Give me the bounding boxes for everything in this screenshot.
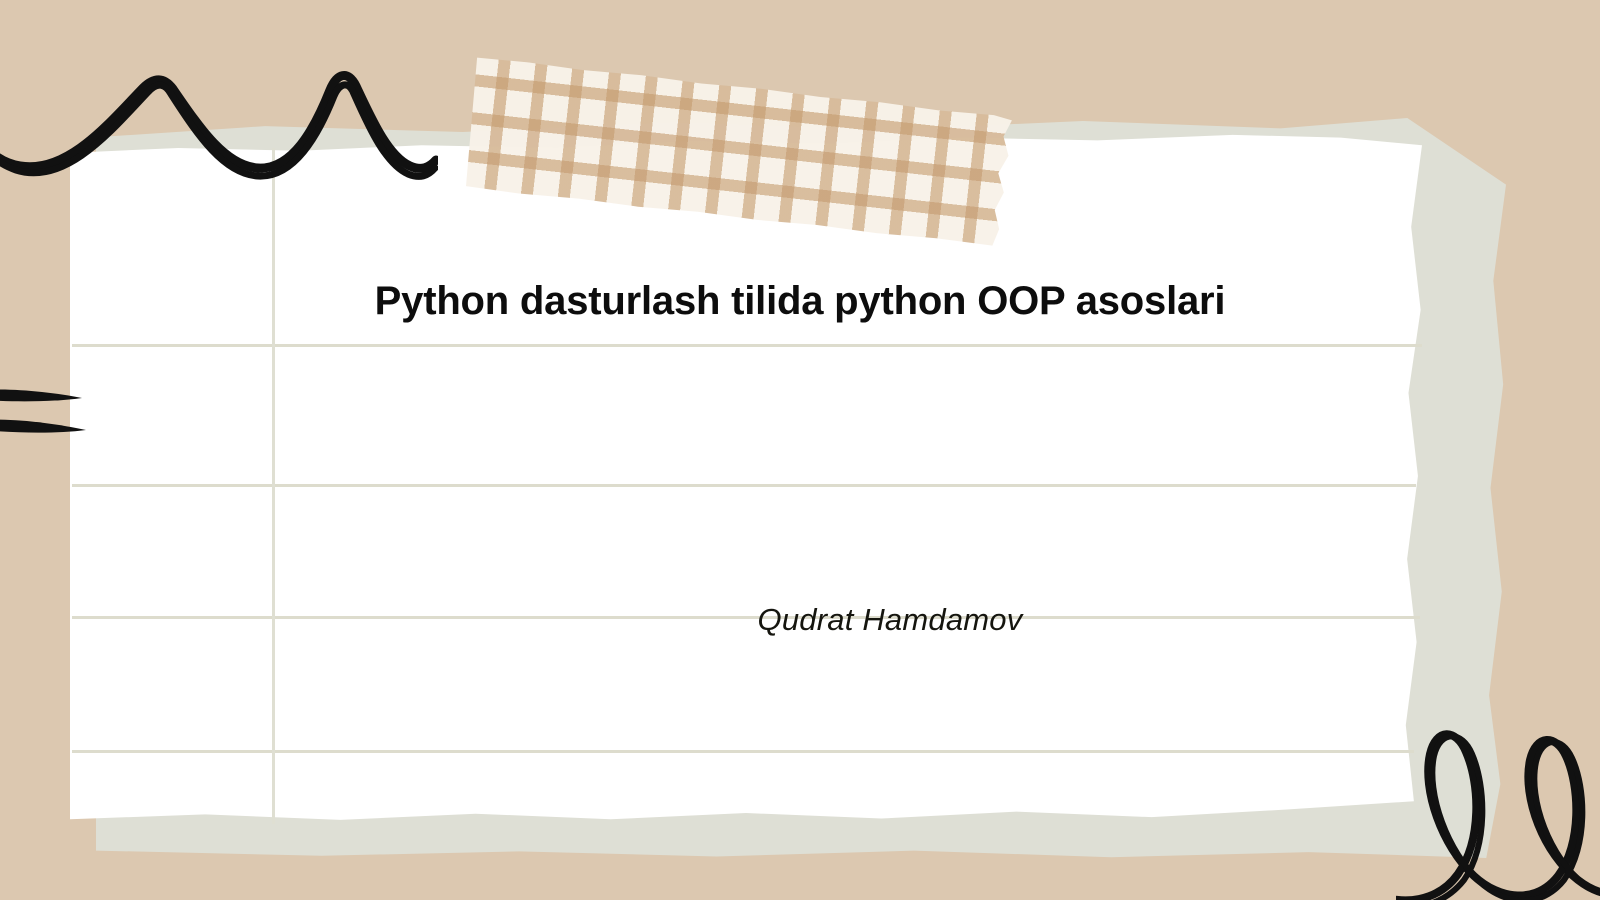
slide-canvas: Python dasturlash tilida python OOP asos…: [0, 0, 1600, 900]
author-name: Qudrat Hamdamov: [450, 602, 1330, 638]
margin-line: [272, 148, 275, 824]
page-title: Python dasturlash tilida python OOP asos…: [300, 278, 1300, 324]
